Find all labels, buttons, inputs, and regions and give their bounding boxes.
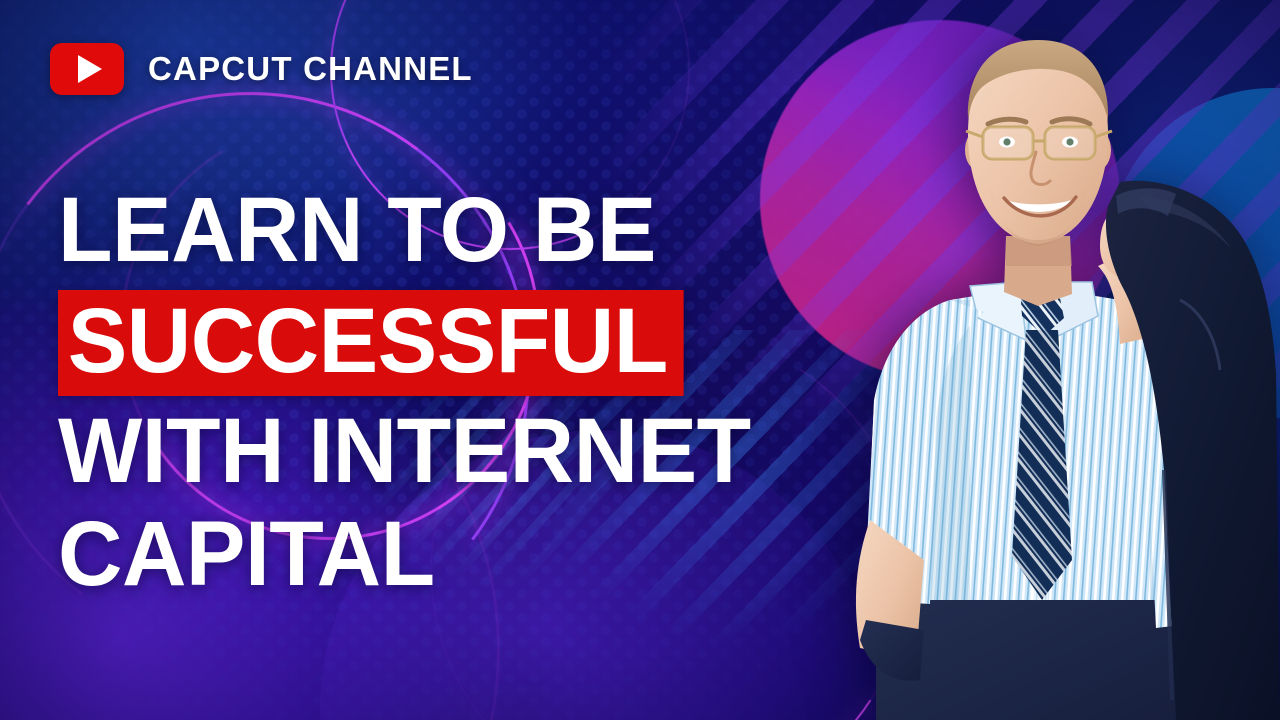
channel-brand[interactable]: CAPCUT CHANNEL [50,43,473,95]
youtube-play-icon[interactable] [50,43,124,95]
headline-line-3: WITH INTERNET [58,406,863,497]
play-triangle-icon [78,55,102,83]
presenter-photo [820,0,1280,720]
channel-name: CAPCUT CHANNEL [148,50,473,88]
headline-line-1: LEARN TO BE [58,185,863,276]
headline-line-4: CAPITAL [58,509,863,600]
youtube-thumbnail: CAPCUT CHANNEL LEARN TO BE SUCCESSFUL WI… [0,0,1280,720]
headline-block: LEARN TO BE SUCCESSFUL WITH INTERNET CAP… [58,185,888,600]
headline-line-2-highlighted: SUCCESSFUL [58,290,683,395]
